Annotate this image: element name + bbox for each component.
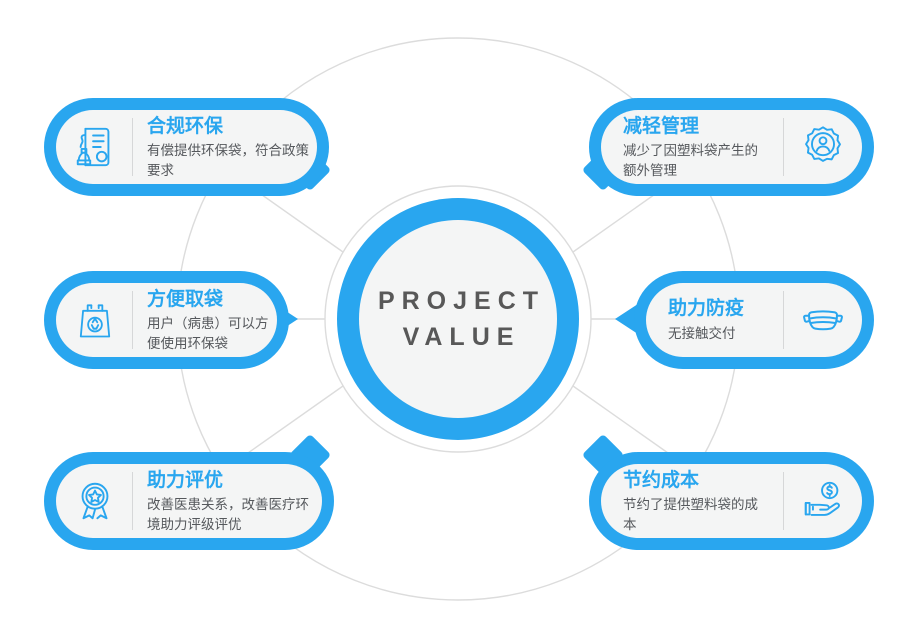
card-title: 方便取袋 bbox=[147, 287, 277, 313]
award-medal-icon bbox=[66, 478, 124, 524]
card-description: 减少了因塑料袋产生的额外管理 bbox=[623, 141, 769, 180]
card-divider bbox=[783, 118, 784, 176]
card-body: 助力防疫 无接触交付 bbox=[646, 283, 862, 357]
card-description: 有偿提供环保袋，符合政策要求 bbox=[147, 141, 317, 180]
card-divider bbox=[132, 291, 133, 349]
value-card-rating[interactable]: 助力评优 改善医患关系，改善医疗环境助力评级评优 bbox=[44, 452, 334, 550]
card-divider bbox=[132, 118, 133, 176]
value-card-compliance[interactable]: 合规环保 有偿提供环保袋，符合政策要求 bbox=[44, 98, 329, 196]
card-description: 改善医患关系，改善医疗环境助力评级评优 bbox=[147, 495, 322, 534]
card-title: 节约成本 bbox=[623, 468, 769, 494]
card-body: 减轻管理 减少了因塑料袋产生的额外管理 bbox=[601, 110, 862, 184]
gear-user-icon bbox=[794, 124, 852, 170]
card-title: 减轻管理 bbox=[623, 114, 769, 140]
card-title: 合规环保 bbox=[147, 114, 317, 140]
spoke-bottom-right bbox=[573, 386, 668, 453]
card-divider bbox=[783, 472, 784, 530]
card-description: 无接触交付 bbox=[668, 324, 769, 344]
center-title-line1: PROJECT bbox=[371, 283, 545, 319]
recycle-bag-icon bbox=[66, 298, 124, 342]
card-description: 用户（病患）可以方便使用环保袋 bbox=[147, 314, 277, 353]
center-title-line2: VALUE bbox=[396, 319, 521, 355]
value-card-cost[interactable]: 节约成本 节约了提供塑料袋的成本 bbox=[589, 452, 874, 550]
card-body: 合规环保 有偿提供环保袋，符合政策要求 bbox=[56, 110, 317, 184]
value-card-management[interactable]: 减轻管理 减少了因塑料袋产生的额外管理 bbox=[589, 98, 874, 196]
spoke-bottom-left bbox=[248, 386, 343, 453]
card-body: 方便取袋 用户（病患）可以方便使用环保袋 bbox=[56, 283, 277, 357]
card-divider bbox=[783, 291, 784, 349]
card-text: 节约成本 节约了提供塑料袋的成本 bbox=[601, 468, 769, 535]
hand-money-icon bbox=[794, 478, 852, 524]
diagram-canvas: 合规环保 有偿提供环保袋，符合政策要求 减轻管理 减少了因塑料袋产生的额外管理 bbox=[0, 0, 913, 634]
center-hub: PROJECT VALUE bbox=[337, 198, 579, 440]
card-title: 助力防疫 bbox=[668, 296, 769, 322]
card-title: 助力评优 bbox=[147, 468, 322, 494]
value-card-convenience[interactable]: 方便取袋 用户（病患）可以方便使用环保袋 bbox=[44, 271, 289, 369]
card-text: 合规环保 有偿提供环保袋，符合政策要求 bbox=[147, 114, 317, 181]
face-mask-icon bbox=[794, 296, 852, 344]
card-body: 助力评优 改善医患关系，改善医疗环境助力评级评优 bbox=[56, 464, 322, 538]
center-hub-inner: PROJECT VALUE bbox=[359, 220, 557, 418]
card-description: 节约了提供塑料袋的成本 bbox=[623, 495, 769, 534]
card-divider bbox=[132, 472, 133, 530]
card-body: 节约成本 节约了提供塑料袋的成本 bbox=[601, 464, 862, 538]
document-stamp-icon bbox=[66, 124, 124, 170]
card-text: 方便取袋 用户（病患）可以方便使用环保袋 bbox=[147, 287, 277, 354]
card-text: 助力防疫 无接触交付 bbox=[646, 296, 769, 343]
value-card-epidemic[interactable]: 助力防疫 无接触交付 bbox=[634, 271, 874, 369]
card-text: 减轻管理 减少了因塑料袋产生的额外管理 bbox=[601, 114, 769, 181]
card-text: 助力评优 改善医患关系，改善医疗环境助力评级评优 bbox=[147, 468, 322, 535]
